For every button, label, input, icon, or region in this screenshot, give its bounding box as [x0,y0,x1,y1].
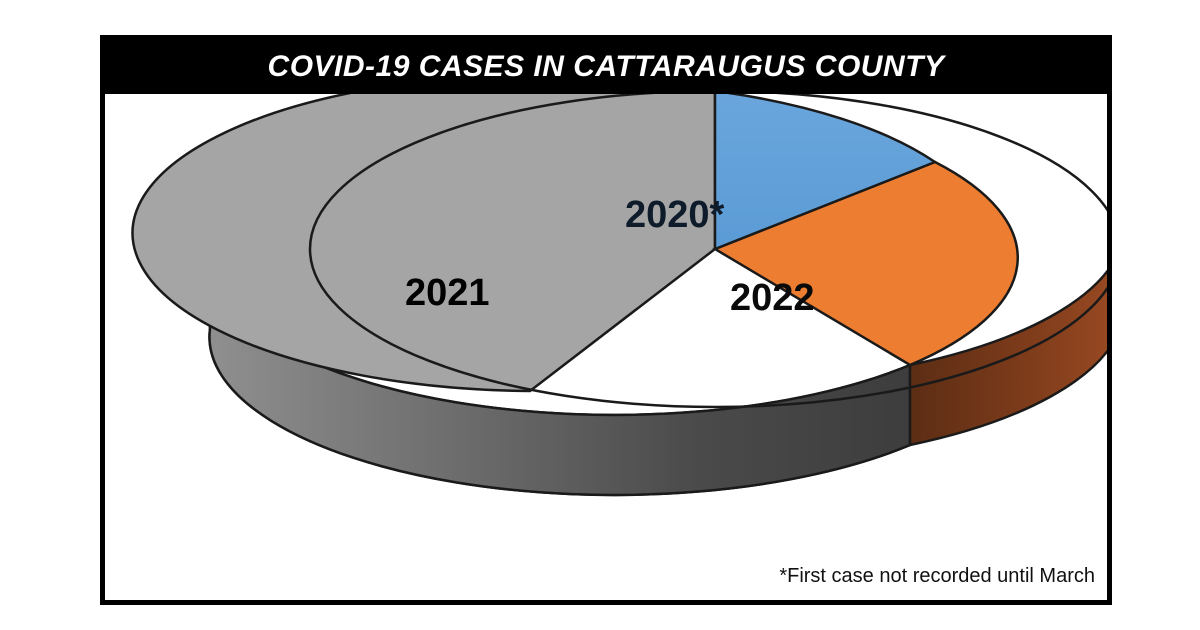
pie-chart-svg [105,94,1107,600]
page-title: COVID-19 CASES IN CATTARAUGUS COUNTY [268,50,945,84]
chart-title-bar: COVID-19 CASES IN CATTARAUGUS COUNTY [105,40,1107,94]
chart-frame: COVID-19 CASES IN CATTARAUGUS COUNTY [100,35,1112,605]
chart-page: COVID-19 CASES IN CATTARAUGUS COUNTY [0,0,1200,630]
chart-footnote: *First case not recorded until March [779,565,1095,588]
pie-chart-plot-area: 2020* 2022 2021 *First case not recorded… [105,94,1107,600]
